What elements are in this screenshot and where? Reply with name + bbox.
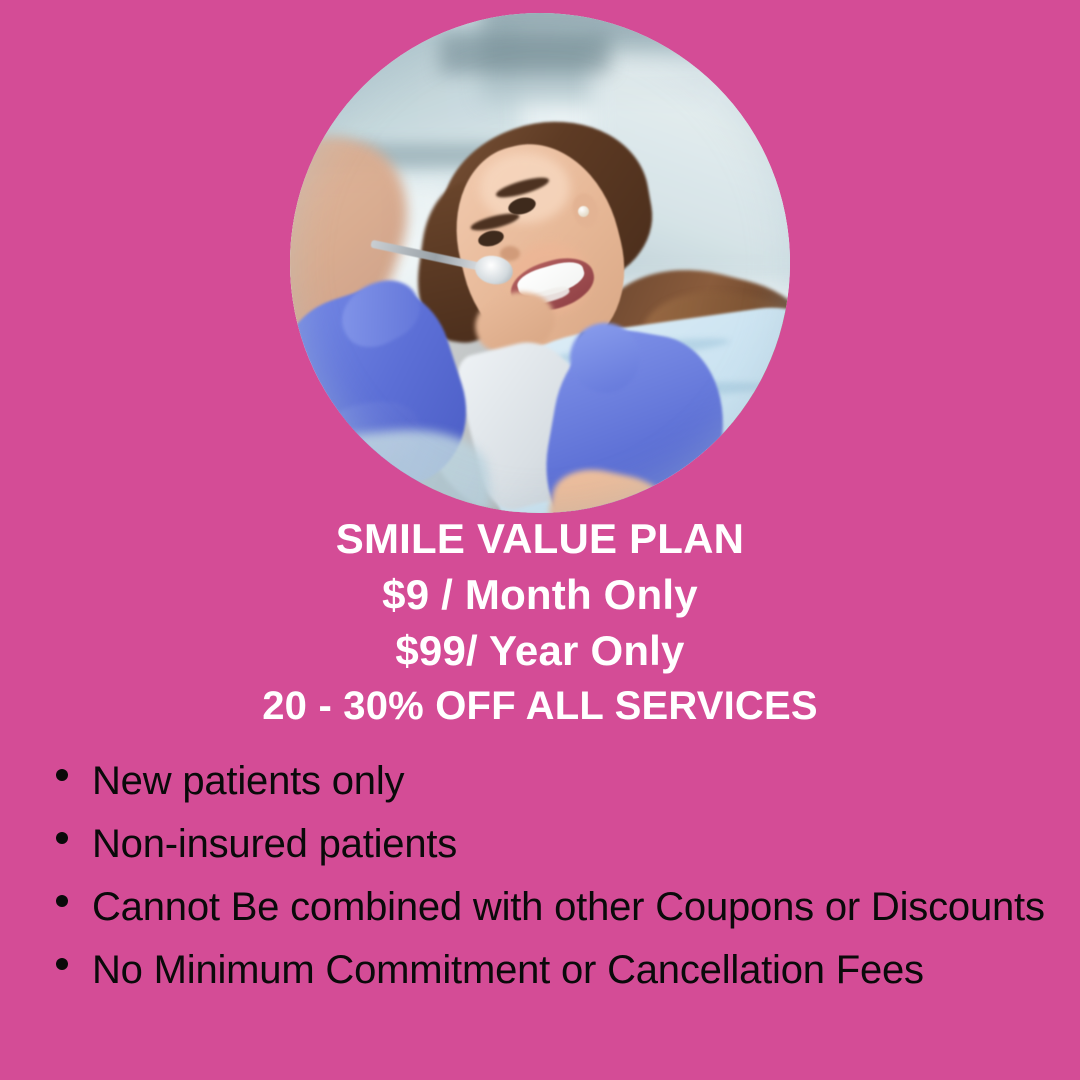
earring <box>578 206 589 217</box>
bullet-dot-icon <box>56 958 68 970</box>
bullet-dot-icon <box>56 832 68 844</box>
terms-list: New patients only Non-insured patients C… <box>56 752 1080 1004</box>
dental-patient-photo <box>290 13 790 513</box>
list-item-label: New patients only <box>92 752 404 811</box>
bullet-dot-icon <box>56 769 68 781</box>
discount-offer: 20 - 30% OFF ALL SERVICES <box>0 686 1080 726</box>
plan-title: SMILE VALUE PLAN <box>0 518 1080 560</box>
list-item-label: Non-insured patients <box>92 815 457 874</box>
ceiling-band-shape <box>440 33 610 73</box>
list-item: Non-insured patients <box>56 815 1080 874</box>
list-item-label: No Minimum Commitment or Cancellation Fe… <box>92 941 924 1000</box>
list-item-label: Cannot Be combined with other Coupons or… <box>92 878 1045 937</box>
photo-artwork <box>290 13 790 513</box>
list-item: New patients only <box>56 752 1080 811</box>
monthly-price: $9 / Month Only <box>0 574 1080 616</box>
list-item: Cannot Be combined with other Coupons or… <box>56 878 1080 937</box>
bullet-dot-icon <box>56 895 68 907</box>
yearly-price: $99/ Year Only <box>0 630 1080 672</box>
list-item: No Minimum Commitment or Cancellation Fe… <box>56 941 1080 1000</box>
offer-headings: SMILE VALUE PLAN $9 / Month Only $99/ Ye… <box>0 518 1080 726</box>
